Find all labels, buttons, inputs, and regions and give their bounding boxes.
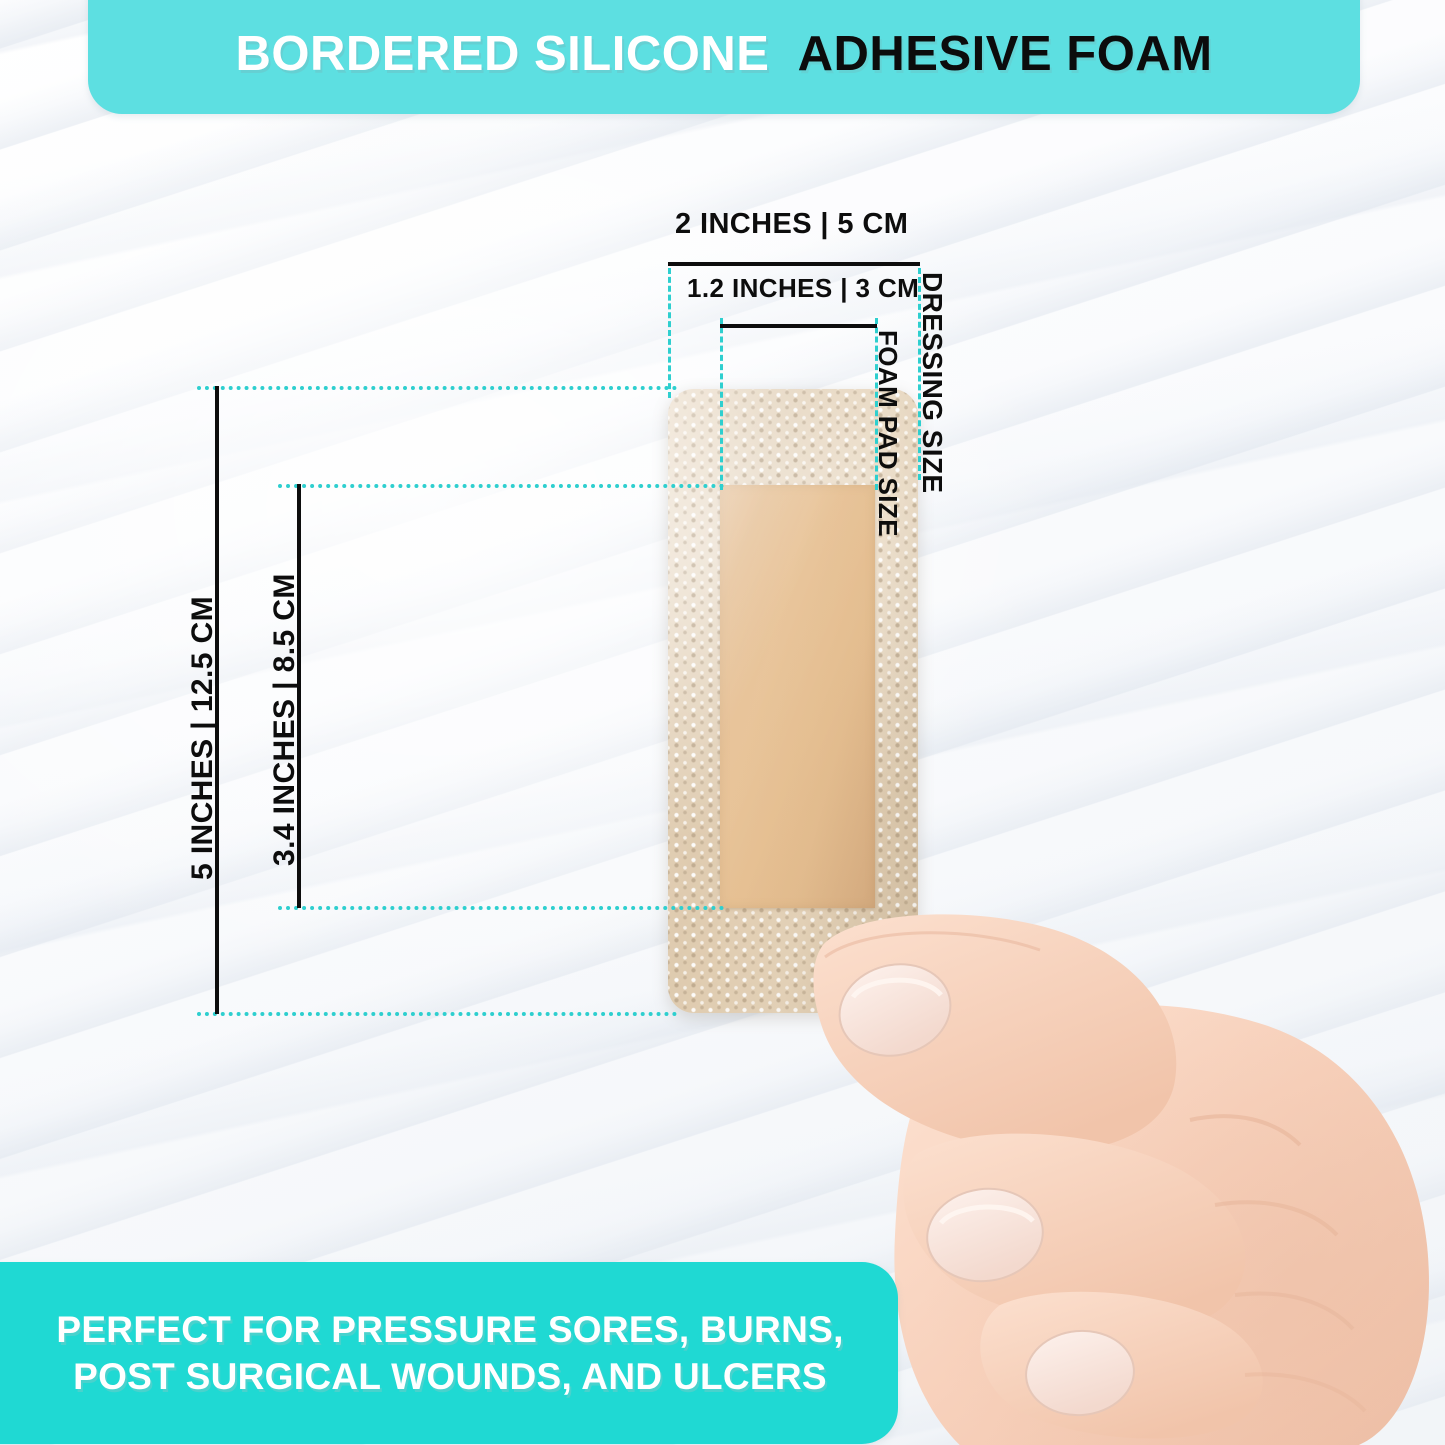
footer-text: PERFECT FOR PRESSURE SORES, BURNS, POST … (12, 1306, 843, 1401)
measure-pad-width (720, 324, 877, 328)
header-banner: BORDERED SILICONE ADHESIVE FOAM (88, 0, 1360, 114)
infographic-canvas: 2 INCHES | 5 CM 1.2 INCHES | 3 CM 5 INCH… (0, 0, 1445, 1445)
guide-dressing-top (197, 386, 677, 390)
footer-line-2: POST SURGICAL WOUNDS, AND ULCERS (56, 1353, 843, 1400)
header-title-white: BORDERED SILICONE (235, 27, 769, 81)
footer-line-1: PERFECT FOR PRESSURE SORES, BURNS, (56, 1306, 843, 1353)
footer-banner: PERFECT FOR PRESSURE SORES, BURNS, POST … (0, 1262, 898, 1444)
label-dressing-size: DRESSING SIZE (916, 272, 948, 493)
measure-dressing-width (668, 262, 920, 266)
guide-pad-left-vertical (720, 318, 723, 490)
header-title: BORDERED SILICONE ADHESIVE FOAM (235, 0, 1212, 79)
label-dressing-height: 5 INCHES | 12.5 CM (186, 596, 220, 880)
label-dressing-width: 2 INCHES | 5 CM (675, 208, 908, 241)
guide-pad-top (278, 484, 724, 488)
guide-dressing-bottom (197, 1012, 677, 1016)
header-title-black: ADHESIVE FOAM (798, 27, 1213, 81)
label-foam-pad-size: FOAM PAD SIZE (872, 330, 903, 537)
label-pad-width: 1.2 INCHES | 3 CM (687, 273, 919, 304)
guide-pad-bottom (278, 906, 724, 910)
guide-dressing-left-vertical (668, 268, 671, 398)
label-pad-height: 3.4 INCHES | 8.5 CM (268, 573, 302, 866)
